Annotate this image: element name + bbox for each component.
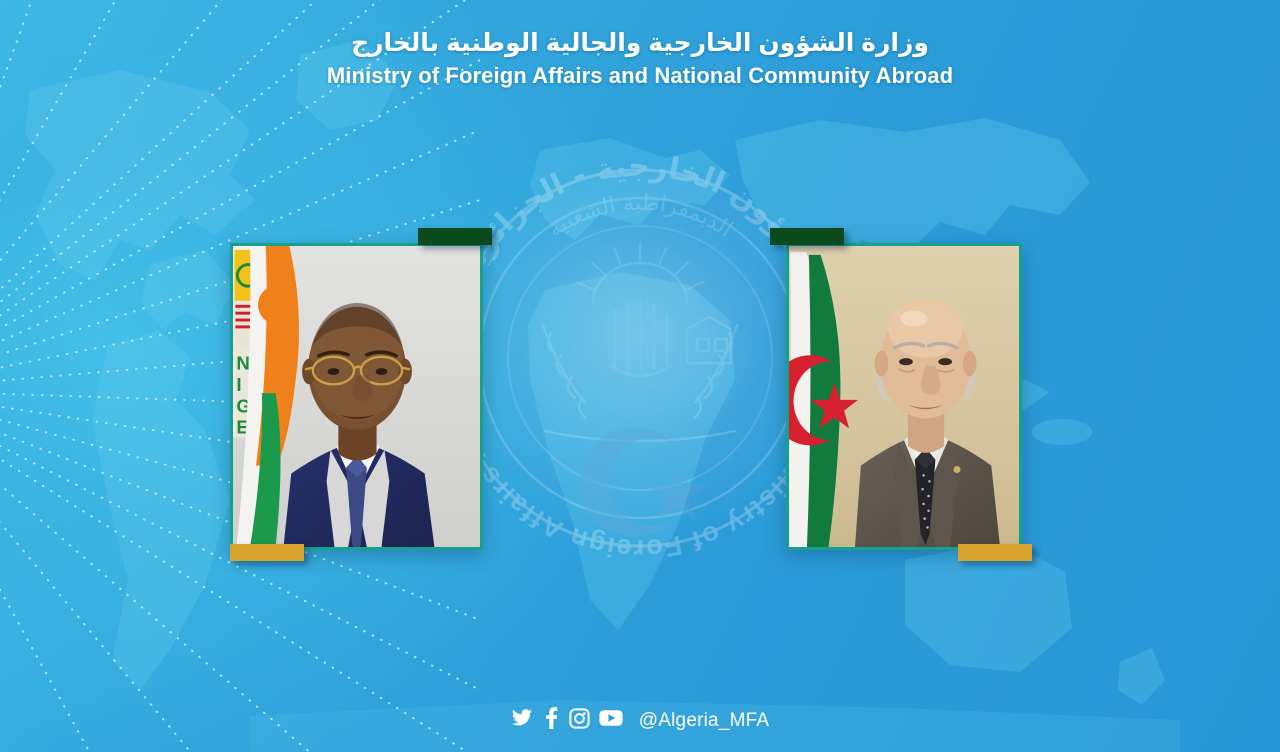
gold-accent-bar-left bbox=[230, 544, 304, 561]
header: وزارة الشؤون الخارجية والجالية الوطنية ب… bbox=[0, 0, 1280, 89]
ministry-title-arabic: وزارة الشؤون الخارجية والجالية الوطنية ب… bbox=[0, 28, 1280, 59]
social-handle: @Algeria_MFA bbox=[639, 710, 769, 732]
watermark-english: Ministry of Foreign Affairs A bbox=[456, 436, 825, 564]
photo-frame-right bbox=[786, 243, 1022, 550]
youtube-icon[interactable] bbox=[599, 708, 623, 733]
watermark-arabic-inner: الديمقراطية الشعبية bbox=[543, 191, 736, 243]
portrait-right bbox=[789, 246, 1019, 547]
ministry-title-english: Ministry of Foreign Affairs and National… bbox=[0, 63, 1280, 89]
svg-text:I: I bbox=[236, 374, 241, 395]
footer-social-bar: @Algeria_MFA bbox=[0, 707, 1280, 734]
portrait-left: NI GE bbox=[233, 246, 480, 547]
svg-text:Ministry of Foreign Affairs A: Ministry of Foreign Affairs A bbox=[456, 436, 825, 564]
svg-text:N: N bbox=[236, 353, 249, 374]
green-accent-bar-left bbox=[418, 228, 492, 245]
poster-canvas: وزارة الشؤون الخارجية والجالية الوطنية ب… bbox=[0, 0, 1280, 752]
watermark-arabic-outer: الشؤون الخارجية - الجزائرية bbox=[451, 149, 830, 285]
instagram-icon[interactable] bbox=[569, 708, 590, 734]
world-map-background bbox=[0, 0, 1280, 752]
twitter-icon[interactable] bbox=[511, 707, 533, 734]
svg-text:الديمقراطية الشعبية: الديمقراطية الشعبية bbox=[543, 191, 736, 243]
facebook-icon[interactable] bbox=[542, 707, 560, 734]
photo-frame-left: NI GE bbox=[230, 243, 483, 550]
gold-accent-bar-right bbox=[958, 544, 1032, 561]
green-accent-bar-right bbox=[770, 228, 844, 245]
svg-text:الشؤون الخارجية - الجزائرية: الشؤون الخارجية - الجزائرية bbox=[451, 149, 830, 285]
